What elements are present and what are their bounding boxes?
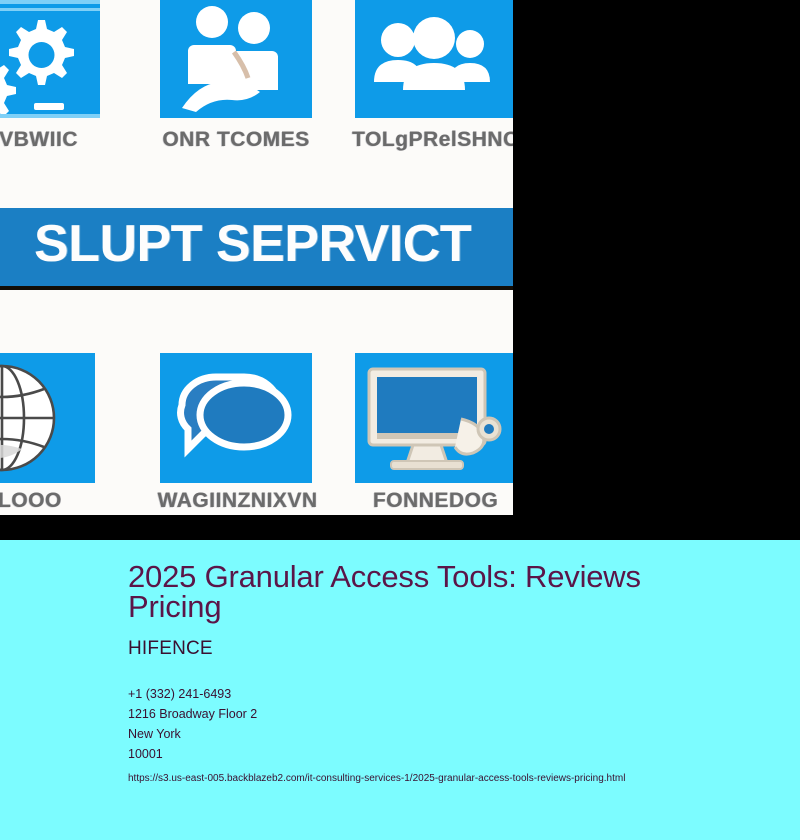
tile-outcomes <box>160 0 312 118</box>
tile-label-support: FONNEDOG <box>348 489 513 513</box>
tile-label-services: SEVBWIIC <box>0 128 108 152</box>
contact-phone: +1 (332) 241-6493 <box>128 684 780 704</box>
hero-banner-text: SLUPT SEPRVICT <box>34 214 471 274</box>
contact-city: New York <box>128 724 780 744</box>
source-url-link[interactable]: https://s3.us-east-005.backblazeb2.com/i… <box>128 772 780 786</box>
tile-services <box>0 0 100 118</box>
tile-label-people: TOLgPRelSHNC <box>344 128 513 152</box>
group-people-icon <box>355 0 513 118</box>
contact-postal-code: 10001 <box>128 744 780 764</box>
hero-image: SEVBWIIC ONR TCOMES TOLgPRelSHNC SLUPT S… <box>0 0 513 515</box>
tile-label-outcomes: ONR TCOMES <box>152 128 320 152</box>
company-name: HIFENCE <box>128 638 780 660</box>
tile-people <box>355 0 513 118</box>
contact-block: +1 (332) 241-6493 1216 Broadway Floor 2 … <box>128 684 780 764</box>
tile-support <box>355 353 513 483</box>
tile-chat <box>160 353 312 483</box>
desktop-monitor-icon <box>355 353 513 483</box>
page-title: 2025 Granular Access Tools: Reviews Pric… <box>128 562 688 622</box>
hero-banner: SLUPT SEPRVICT <box>0 208 513 290</box>
globe-icon <box>0 353 95 483</box>
info-content: 2025 Granular Access Tools: Reviews Pric… <box>128 562 780 786</box>
info-panel: 2025 Granular Access Tools: Reviews Pric… <box>0 540 800 840</box>
contact-street: 1216 Broadway Floor 2 <box>128 704 780 724</box>
tile-label-global: ALOOO <box>0 489 106 513</box>
tile-global <box>0 353 95 483</box>
handshake-people-icon <box>160 0 312 118</box>
chat-bubbles-icon <box>160 353 312 483</box>
gears-icon <box>0 0 100 118</box>
media-letterbox-area: SEVBWIIC ONR TCOMES TOLgPRelSHNC SLUPT S… <box>0 0 800 540</box>
tile-label-chat: WAGIINZNIXVN <box>150 489 325 513</box>
